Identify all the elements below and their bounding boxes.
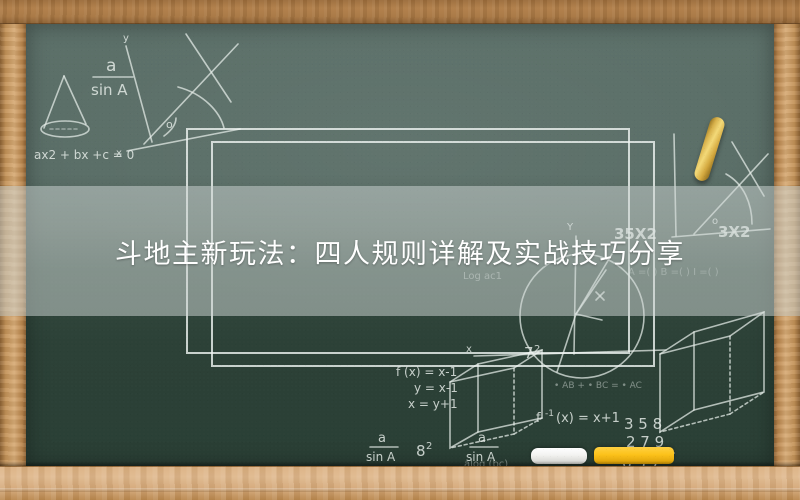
svg-text:o: o xyxy=(166,118,173,131)
cone-drawing xyxy=(41,76,89,137)
svg-text:y = x-1: y = x-1 xyxy=(414,381,458,395)
fraction-a-over-sinA-bottomcenter: a sin A xyxy=(466,431,498,464)
wood-frame-top xyxy=(0,0,800,24)
svg-text:a: a xyxy=(478,431,486,446)
svg-text:x = y+1: x = y+1 xyxy=(408,397,458,411)
svg-text:sin A: sin A xyxy=(91,81,128,99)
svg-text:3 5 8: 3 5 8 xyxy=(624,415,662,433)
alog-note: alog (bc) xyxy=(464,459,508,466)
svg-text:8: 8 xyxy=(416,442,426,460)
svg-text:x: x xyxy=(116,148,122,159)
svg-text:-1: -1 xyxy=(545,409,554,419)
inverse-function-equation: f -1 (x) = x+1 xyxy=(536,409,620,426)
svg-text:7: 7 xyxy=(524,344,534,362)
page-title: 斗地主新玩法：四人规则详解及实战技巧分享 xyxy=(115,232,685,271)
cube-drawing-right xyxy=(660,312,764,432)
chalkboard-banner: a sin A ax2 + bx +c = 0 y x o xyxy=(0,0,800,500)
svg-text:sin A: sin A xyxy=(466,450,496,464)
chalk-tray xyxy=(0,466,800,500)
svg-text:(x) = x+1: (x) = x+1 xyxy=(556,411,620,426)
title-banner: 斗地主新玩法：四人规则详解及实战技巧分享 xyxy=(0,186,800,316)
svg-text:2: 2 xyxy=(426,441,432,452)
exponent-eight-squared: 8 2 xyxy=(416,441,432,460)
svg-text:2: 2 xyxy=(534,344,540,355)
chalk-stick-icon xyxy=(693,115,727,183)
fraction-a-over-sinA-bottomleft: a sin A xyxy=(366,431,398,464)
svg-text:x: x xyxy=(466,344,472,355)
svg-text:f (x) = x-1: f (x) = x-1 xyxy=(396,365,457,379)
svg-text:f: f xyxy=(536,411,541,426)
svg-text:a: a xyxy=(106,56,116,76)
quadratic-equation: ax2 + bx +c = 0 xyxy=(34,148,134,162)
exponent-seven-squared: 7 2 xyxy=(524,344,540,362)
svg-text:sin A: sin A xyxy=(366,450,396,464)
eraser-icon xyxy=(531,448,587,464)
angle-diagram-topleft: y x o xyxy=(116,33,240,159)
cube-drawing-center xyxy=(450,350,542,448)
function-equations-bottomleft: f (x) = x-1 y = x-1 x = y+1 xyxy=(396,365,458,411)
chalk-piece-icon xyxy=(594,447,674,464)
tray-lip xyxy=(0,488,800,492)
fraction-a-over-sinA-topleft: a sin A xyxy=(91,56,133,99)
svg-text:a: a xyxy=(378,431,386,446)
svg-text:y: y xyxy=(123,33,129,44)
vector-note: • AB + • BC = • AC xyxy=(554,381,642,391)
